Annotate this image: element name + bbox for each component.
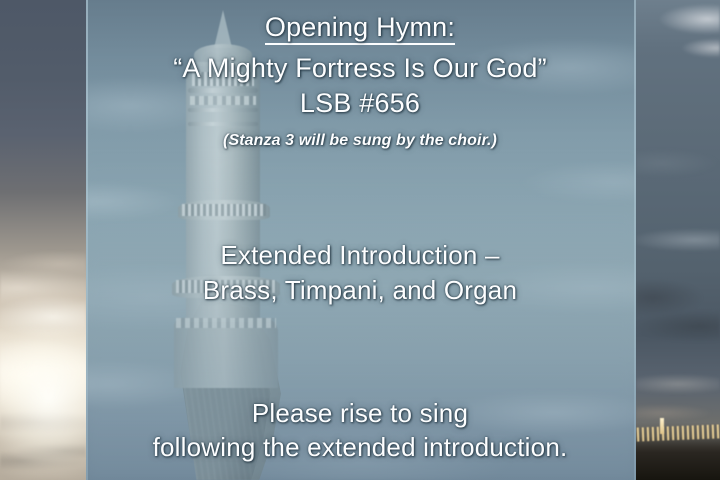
hymnal-number: LSB #656	[0, 88, 720, 119]
introduction-line-1: Extended Introduction –	[0, 240, 720, 271]
presentation-slide: Opening Hymn: “A Mighty Fortress Is Our …	[0, 0, 720, 480]
instruction-line-1: Please rise to sing	[0, 398, 720, 429]
introduction-line-2: Brass, Timpani, and Organ	[0, 275, 720, 306]
slide-heading-text: Opening Hymn:	[265, 12, 455, 45]
instruction-line-2: following the extended introduction.	[0, 432, 720, 463]
slide-text-layer: Opening Hymn: “A Mighty Fortress Is Our …	[0, 0, 720, 480]
hymn-title: “A Mighty Fortress Is Our God”	[0, 53, 720, 84]
slide-heading: Opening Hymn:	[0, 12, 720, 43]
stanza-note: (Stanza 3 will be sung by the choir.)	[0, 132, 720, 150]
